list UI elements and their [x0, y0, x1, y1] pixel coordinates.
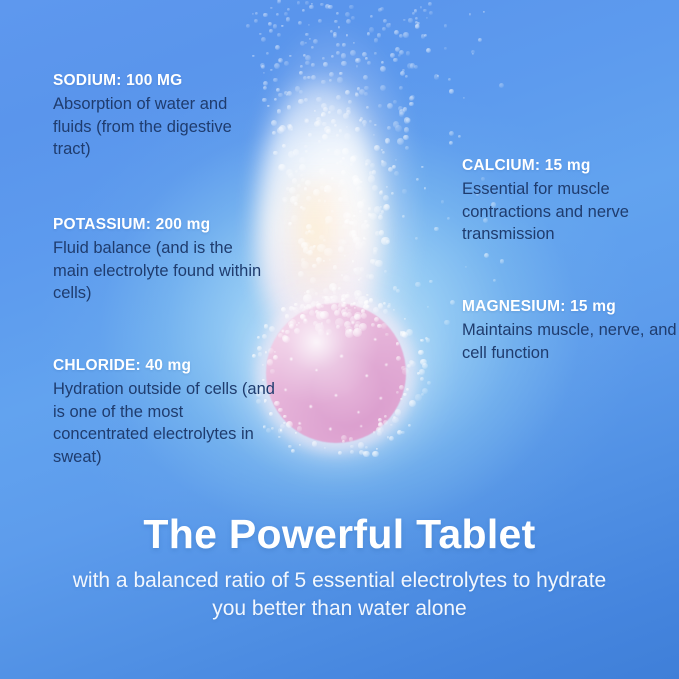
fizz-bubble	[395, 125, 402, 132]
fizz-bubble	[314, 110, 316, 112]
fizz-bubble	[288, 445, 292, 449]
fizz-bubble	[410, 95, 415, 100]
fizz-bubble	[263, 13, 268, 18]
fizz-bubble	[313, 321, 318, 326]
fizz-bubble	[373, 431, 376, 434]
fizz-bubble	[345, 329, 354, 338]
fizz-bubble	[366, 106, 369, 109]
fizz-bubble	[295, 432, 297, 434]
fizz-bubble	[301, 261, 309, 269]
fizz-bubble	[305, 119, 309, 123]
fizz-bubble	[408, 424, 411, 427]
nutrient-heading-calcium: CALCIUM: 15 mg	[462, 157, 677, 175]
fizz-bubble	[324, 248, 333, 257]
fizz-bubble	[369, 120, 372, 123]
fizz-bubble	[350, 50, 356, 56]
fizz-bubble	[276, 13, 279, 16]
fizz-bubble	[391, 192, 394, 195]
fizz-bubble	[403, 32, 408, 37]
fizz-bubble	[336, 134, 339, 137]
fizz-bubble	[380, 66, 386, 72]
nutrient-heading-chloride: CHLORIDE: 40 mg	[53, 357, 281, 375]
fizz-bubble	[382, 27, 386, 31]
fizz-bubble	[303, 294, 312, 303]
fizz-bubble	[333, 291, 337, 295]
fizz-bubble	[284, 12, 289, 17]
fizz-bubble	[329, 79, 332, 82]
fizz-bubble	[341, 53, 347, 59]
fizz-bubble	[286, 17, 290, 21]
fizz-bubble	[338, 246, 345, 253]
fizz-bubble	[342, 224, 347, 229]
fizz-bubble	[396, 289, 400, 293]
fizz-bubble	[363, 75, 368, 80]
fizz-bubble	[327, 149, 330, 152]
nutrient-heading-sodium: SODIUM: 100 MG	[53, 72, 268, 90]
fizz-bubble	[354, 312, 362, 320]
fizz-bubble	[289, 324, 294, 329]
fizz-bubble	[331, 210, 334, 213]
fizz-bubble	[338, 239, 345, 246]
fizz-bubble	[421, 339, 424, 342]
fizz-bubble	[386, 186, 389, 189]
fizz-bubble	[441, 200, 444, 203]
fizz-bubble	[325, 296, 331, 302]
fizz-bubble	[368, 175, 375, 182]
fizz-bubble	[394, 30, 399, 35]
fizz-bubble	[343, 275, 350, 282]
fizz-bubble	[299, 157, 306, 164]
fizz-bubble	[421, 166, 424, 169]
nutrient-card-sodium: SODIUM: 100 MG Absorption of water and f…	[53, 72, 268, 161]
fizz-bubble	[393, 309, 395, 311]
fizz-bubble	[336, 162, 338, 164]
fizz-bubble	[337, 77, 342, 82]
fizz-bubble	[282, 144, 286, 148]
fizz-bubble	[273, 24, 278, 29]
fizz-bubble	[287, 105, 292, 110]
fizz-bubble	[399, 86, 403, 90]
fizz-bubble	[364, 86, 368, 90]
fizz-bubble	[299, 164, 306, 171]
fizz-bubble	[387, 126, 391, 130]
fizz-bubble	[345, 12, 350, 17]
fizz-bubble	[393, 100, 397, 104]
fizz-bubble	[421, 393, 425, 397]
nutrient-body-sodium: Absorption of water and fluids (from the…	[53, 93, 268, 161]
fizz-bubble	[377, 324, 381, 328]
fizz-bubble	[276, 88, 280, 92]
fizz-bubble	[355, 297, 358, 300]
fizz-bubble	[359, 210, 362, 213]
fizz-bubble	[398, 54, 401, 57]
fizz-bubble	[269, 326, 275, 332]
fizz-bubble	[358, 442, 365, 449]
fizz-bubble	[281, 25, 284, 28]
fizz-bubble	[323, 260, 326, 263]
fizz-bubble	[338, 26, 340, 28]
fizz-bubble	[334, 149, 341, 156]
fizz-bubble	[478, 38, 482, 42]
fizz-bubble	[334, 310, 340, 316]
fizz-bubble	[418, 350, 424, 356]
fizz-bubble	[378, 104, 383, 109]
fizz-bubble	[352, 234, 358, 240]
fizz-bubble	[371, 323, 375, 327]
fizz-bubble	[289, 187, 296, 194]
fizz-bubble	[406, 51, 410, 55]
fizz-bubble	[338, 451, 342, 455]
fizz-bubble	[268, 22, 272, 26]
fizz-bubble	[408, 18, 412, 22]
fizz-bubble	[399, 385, 404, 390]
fizz-bubble	[360, 181, 363, 184]
fizz-bubble	[331, 177, 334, 180]
fizz-bubble	[344, 255, 347, 258]
fizz-bubble	[372, 259, 378, 265]
fizz-bubble	[483, 11, 485, 13]
fizz-bubble	[329, 259, 331, 261]
fizz-bubble	[465, 266, 467, 268]
fizz-bubble	[389, 436, 394, 441]
fizz-bubble	[318, 19, 322, 23]
fizz-bubble	[299, 444, 302, 447]
fizz-bubble	[366, 294, 369, 297]
fizz-bubble	[312, 264, 317, 269]
fizz-bubble	[388, 167, 393, 172]
fizz-bubble	[287, 8, 290, 11]
fizz-bubble	[283, 415, 287, 419]
fizz-bubble	[305, 1, 309, 5]
fizz-bubble	[405, 146, 410, 151]
fizz-bubble	[355, 58, 360, 63]
fizz-bubble	[395, 159, 397, 161]
fizz-bubble	[324, 447, 326, 449]
fizz-bubble	[420, 6, 423, 9]
fizz-bubble	[278, 93, 282, 97]
nutrient-card-potassium: POTASSIUM: 200 mg Fluid balance (and is …	[53, 216, 268, 305]
fizz-bubble	[329, 105, 336, 112]
fizz-bubble	[380, 7, 384, 11]
nutrient-card-chloride: CHLORIDE: 40 mg Hydration outside of cel…	[53, 357, 281, 468]
fizz-bubble	[293, 307, 299, 313]
fizz-bubble	[383, 309, 388, 314]
fizz-bubble	[299, 71, 303, 75]
fizz-bubble	[349, 437, 353, 441]
fizz-bubble	[374, 52, 376, 54]
fizz-bubble	[421, 34, 426, 39]
fizz-bubble	[273, 151, 277, 155]
fizz-bubble	[368, 207, 372, 211]
fizz-bubble	[359, 277, 362, 280]
fizz-bubble	[323, 288, 329, 294]
fizz-bubble	[355, 92, 359, 96]
fizz-bubble	[353, 215, 356, 218]
fizz-bubble	[275, 45, 281, 51]
fizz-bubble	[415, 24, 420, 29]
fizz-bubble	[321, 80, 326, 85]
fizz-bubble	[339, 160, 343, 164]
fizz-bubble	[326, 329, 332, 335]
fizz-bubble	[409, 102, 414, 107]
fizz-bubble	[311, 46, 314, 49]
fizz-bubble	[377, 431, 382, 436]
fizz-bubble	[365, 446, 368, 449]
fizz-bubble	[390, 53, 395, 58]
fizz-bubble	[266, 52, 269, 55]
fizz-bubble	[306, 224, 312, 230]
fizz-bubble	[341, 61, 346, 66]
fizz-bubble	[403, 135, 409, 141]
fizz-bubble	[289, 55, 292, 58]
fizz-bubble	[283, 336, 290, 343]
fizz-bubble	[260, 63, 266, 69]
fizz-bubble	[304, 187, 308, 191]
fizz-bubble	[374, 145, 380, 151]
fizz-bubble	[353, 42, 355, 44]
fizz-bubble	[322, 122, 327, 127]
fizz-bubble	[291, 215, 298, 222]
fizz-bubble	[304, 145, 307, 148]
fizz-bubble	[409, 400, 416, 407]
fizz-bubble	[298, 271, 304, 277]
fizz-bubble	[374, 38, 378, 42]
fizz-bubble	[377, 33, 382, 38]
fizz-bubble	[259, 33, 261, 35]
fizz-bubble	[415, 17, 418, 20]
fizz-bubble	[329, 72, 335, 78]
fizz-bubble	[265, 351, 268, 354]
fizz-bubble	[278, 58, 284, 64]
fizz-bubble	[390, 424, 393, 427]
fizz-bubble	[304, 306, 306, 308]
fizz-bubble	[429, 280, 433, 284]
fizz-bubble	[321, 305, 323, 307]
fizz-bubble	[400, 398, 403, 401]
fizz-bubble	[346, 19, 351, 24]
fizz-bubble	[364, 220, 367, 223]
fizz-bubble	[378, 215, 383, 220]
fizz-bubble	[493, 279, 496, 282]
fizz-bubble	[362, 199, 366, 203]
fizz-bubble	[305, 33, 309, 37]
fizz-bubble	[402, 332, 408, 338]
fizz-bubble	[380, 85, 386, 91]
fizz-bubble	[367, 61, 371, 65]
fizz-bubble	[399, 34, 403, 38]
nutrient-body-potassium: Fluid balance (and is the main electroly…	[53, 237, 268, 305]
fizz-bubble	[325, 216, 333, 224]
fizz-bubble	[341, 435, 347, 441]
fizz-bubble	[352, 260, 354, 262]
fizz-bubble	[356, 65, 358, 67]
fizz-bubble	[372, 185, 379, 192]
fizz-bubble	[383, 302, 386, 305]
fizz-bubble	[381, 61, 384, 64]
fizz-bubble	[386, 141, 389, 144]
fizz-bubble	[427, 306, 429, 308]
fizz-bubble	[384, 270, 387, 273]
fizz-bubble	[322, 158, 324, 160]
fizz-bubble	[305, 55, 311, 61]
fizz-bubble	[270, 69, 273, 72]
fizz-bubble	[450, 300, 455, 305]
fizz-bubble	[301, 178, 305, 182]
fizz-bubble	[261, 37, 266, 42]
fizz-bubble	[383, 420, 388, 425]
fizz-bubble	[319, 168, 326, 175]
fizz-bubble	[376, 448, 378, 450]
fizz-bubble	[294, 303, 297, 306]
fizz-bubble	[310, 277, 317, 284]
fizz-bubble	[277, 127, 284, 134]
fizz-bubble	[426, 17, 429, 20]
fizz-bubble	[484, 253, 489, 258]
nutrient-heading-potassium: POTASSIUM: 200 mg	[53, 216, 268, 234]
fizz-bubble	[471, 50, 476, 55]
fizz-bubble	[397, 138, 404, 145]
fizz-bubble	[403, 393, 407, 397]
fizz-bubble	[292, 199, 295, 202]
fizz-bubble	[363, 237, 365, 239]
fizz-bubble	[272, 131, 277, 136]
fizz-bubble	[387, 103, 393, 109]
fizz-bubble	[361, 223, 369, 231]
fizz-bubble	[429, 11, 433, 15]
fizz-bubble	[278, 164, 285, 171]
fizz-bubble	[350, 163, 353, 166]
fizz-bubble	[305, 61, 310, 66]
fizz-bubble	[285, 330, 289, 334]
fizz-bubble	[384, 415, 387, 418]
fizz-bubble	[449, 89, 454, 94]
fizz-bubble	[273, 78, 278, 83]
fizz-bubble	[373, 247, 378, 252]
fizz-bubble	[379, 191, 383, 195]
fizz-bubble	[333, 34, 338, 39]
fizz-bubble	[393, 58, 398, 63]
fizz-bubble	[262, 334, 267, 339]
fizz-bubble	[405, 75, 408, 78]
fizz-bubble	[370, 163, 376, 169]
fizz-bubble	[315, 310, 319, 314]
fizz-bubble	[372, 170, 377, 175]
fizz-bubble	[334, 20, 338, 24]
fizz-bubble	[330, 30, 333, 33]
fizz-bubble	[406, 118, 411, 123]
fizz-bubble	[313, 189, 320, 196]
fizz-bubble	[449, 131, 454, 136]
fizz-bubble	[403, 19, 405, 21]
fizz-bubble	[338, 185, 341, 188]
fizz-bubble	[420, 377, 424, 381]
fizz-bubble	[404, 127, 410, 133]
fizz-bubble	[344, 133, 351, 140]
fizz-bubble	[341, 170, 347, 176]
fizz-bubble	[499, 83, 504, 88]
fizz-bubble	[277, 33, 281, 37]
fizz-bubble	[345, 167, 347, 169]
fizz-bubble	[458, 135, 461, 138]
fizz-bubble	[349, 5, 353, 9]
fizz-bubble	[271, 120, 278, 127]
fizz-bubble	[350, 450, 355, 455]
fizz-bubble	[424, 187, 427, 190]
fizz-bubble	[300, 314, 306, 320]
fizz-bubble	[302, 9, 305, 12]
fizz-bubble	[298, 238, 305, 245]
fizz-bubble	[296, 324, 299, 327]
fizz-bubble	[342, 148, 349, 155]
fizz-bubble	[320, 3, 323, 6]
fizz-bubble	[396, 391, 399, 394]
fizz-bubble	[306, 304, 311, 309]
fizz-bubble	[300, 65, 303, 68]
fizz-bubble	[316, 97, 322, 103]
fizz-bubble	[352, 220, 359, 227]
fizz-bubble	[284, 61, 289, 66]
fizz-bubble	[278, 0, 282, 3]
fizz-bubble	[334, 124, 338, 128]
fizz-bubble	[346, 126, 348, 128]
fizz-bubble	[385, 333, 389, 337]
fizz-bubble	[350, 445, 354, 449]
fizz-bubble	[270, 7, 273, 10]
fizz-bubble	[274, 98, 277, 101]
fizz-bubble	[295, 170, 298, 173]
fizz-bubble	[252, 55, 255, 58]
fizz-bubble	[444, 320, 450, 326]
fizz-bubble	[416, 178, 420, 182]
fizz-bubble	[311, 63, 315, 67]
fizz-bubble	[322, 57, 325, 60]
fizz-bubble	[463, 97, 466, 100]
fizz-bubble	[336, 95, 341, 100]
fizz-bubble	[294, 202, 298, 206]
fizz-bubble	[339, 179, 346, 186]
fizz-bubble	[298, 322, 301, 325]
fizz-bubble	[383, 195, 389, 201]
fizz-bubble	[412, 12, 415, 15]
fizz-bubble	[406, 388, 409, 391]
fizz-bubble	[294, 328, 300, 334]
fizz-bubble	[305, 150, 308, 153]
footer-subheadline: with a balanced ratio of 5 essential ele…	[0, 567, 679, 623]
fizz-bubble	[285, 314, 289, 318]
fizz-bubble	[394, 171, 399, 176]
fizz-bubble	[469, 13, 471, 15]
fizz-bubble	[292, 178, 297, 183]
fizz-bubble	[396, 356, 401, 361]
fizz-bubble	[312, 441, 318, 447]
fizz-bubble	[308, 24, 310, 26]
fizz-bubble	[366, 274, 371, 279]
fizz-bubble	[403, 107, 408, 112]
fizz-bubble	[257, 336, 260, 339]
fizz-bubble	[336, 12, 339, 15]
fizz-bubble	[367, 32, 371, 36]
fizz-bubble	[350, 156, 357, 163]
fizz-bubble	[255, 12, 259, 16]
fizz-bubble	[287, 91, 292, 96]
fizz-bubble	[309, 38, 311, 40]
fizz-bubble	[311, 75, 316, 80]
nutrient-body-chloride: Hydration outside of cells (and is one o…	[53, 378, 281, 468]
fizz-bubble	[374, 124, 377, 127]
fizz-bubble	[447, 217, 450, 220]
fizz-bubble	[355, 242, 363, 250]
fizz-bubble	[374, 317, 379, 322]
